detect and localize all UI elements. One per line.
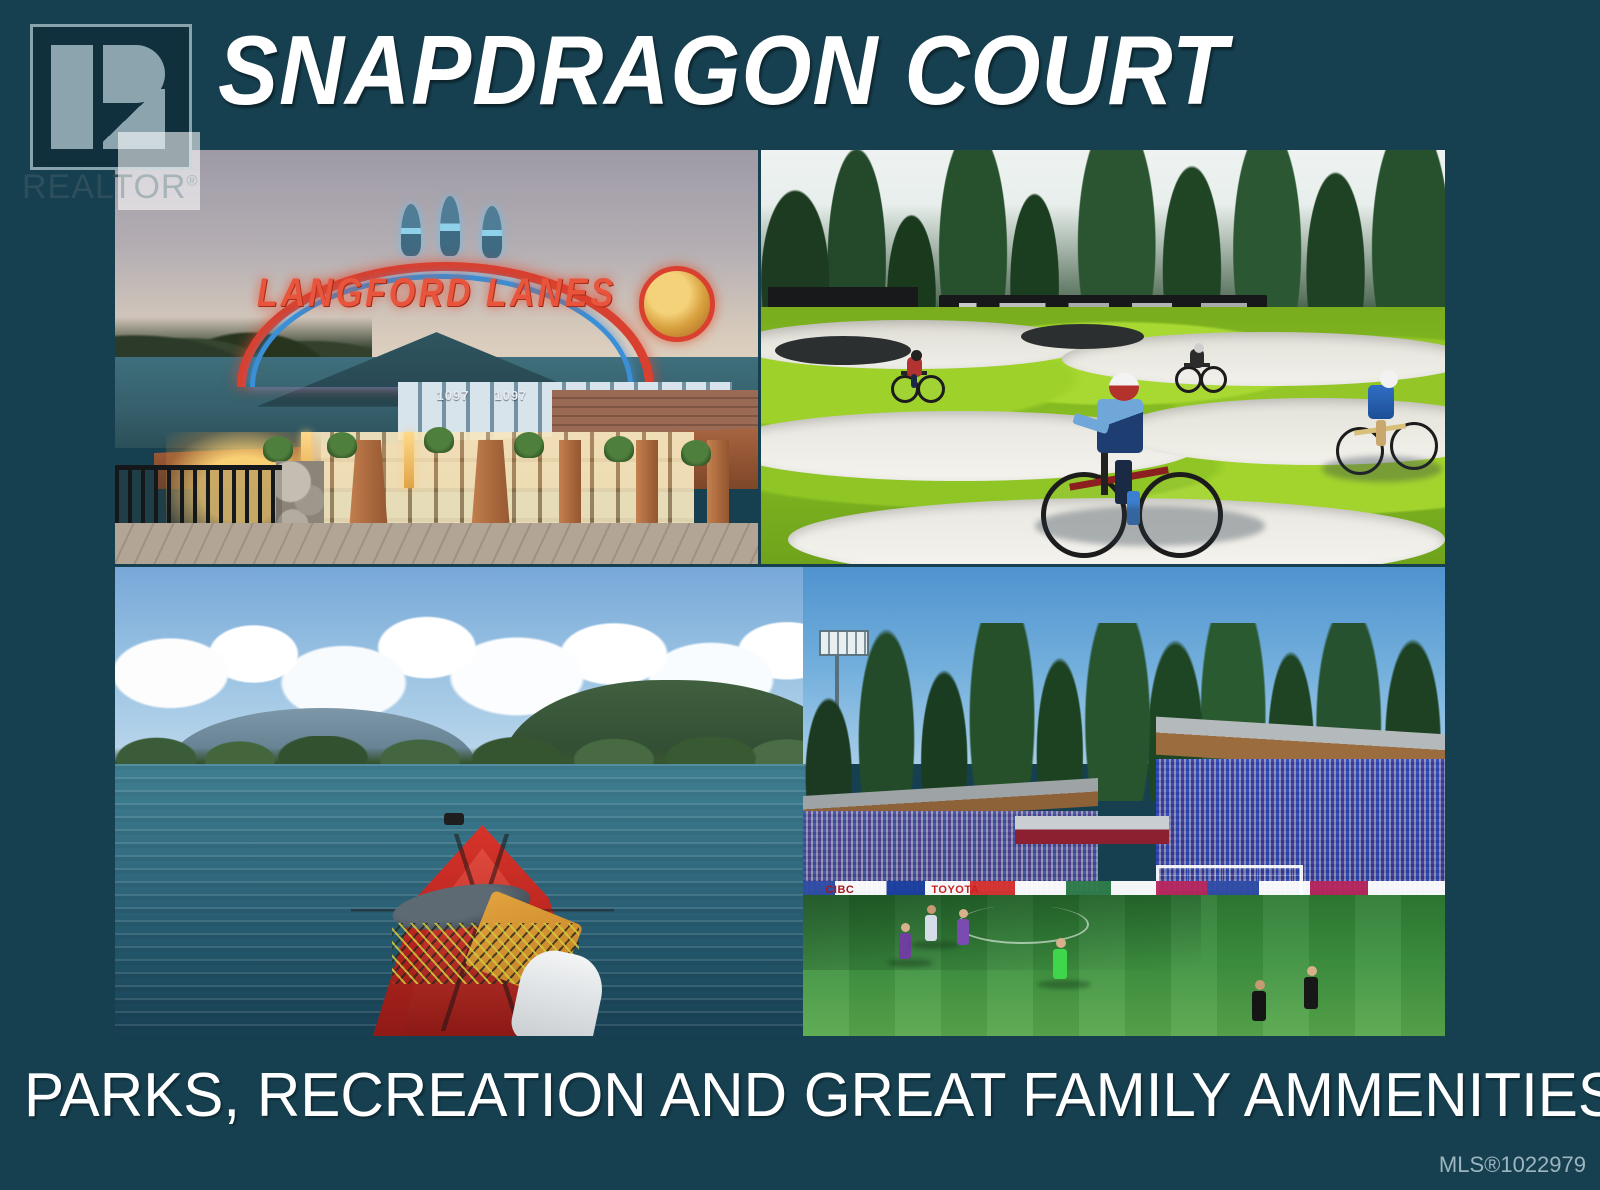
photo-kayaking[interactable] — [115, 567, 808, 1036]
bowling-pin-icon — [440, 196, 460, 256]
player-body — [1053, 949, 1067, 979]
rider-jersey — [1368, 385, 1394, 419]
player-body — [1252, 991, 1266, 1021]
photo-pump-track[interactable] — [761, 150, 1445, 564]
player-head — [959, 909, 968, 918]
player-head — [1307, 966, 1317, 976]
bowling-ball-icon — [639, 266, 715, 342]
rider-shadow — [1035, 506, 1265, 546]
bike-seatpost — [1101, 449, 1108, 495]
bowling-pin-icon — [482, 206, 502, 258]
photo-bowling-alley[interactable]: LANGFORD LANES 1097 1097 — [115, 150, 758, 564]
goalkeeper — [1053, 938, 1067, 984]
rider-helmet — [1109, 373, 1139, 401]
flower-basket — [514, 432, 544, 458]
paved-walkway — [115, 523, 758, 564]
player-shadow — [1037, 980, 1091, 989]
rider-helmet — [1194, 343, 1204, 353]
player — [957, 909, 969, 949]
player-body — [1304, 977, 1318, 1009]
page-title: SNAPDRAGON COURT — [218, 14, 1322, 132]
cyclist — [891, 345, 943, 401]
footer-caption: PARKS, RECREATION AND GREAT FAMILY AMMEN… — [24, 1060, 1576, 1131]
flower-basket — [681, 440, 711, 466]
address-number-left: 1097 — [437, 388, 470, 403]
player-body — [899, 933, 911, 959]
press-box — [1015, 816, 1169, 844]
rider-leg — [911, 374, 917, 388]
flower-basket — [424, 427, 454, 453]
rider-leg — [1376, 420, 1386, 446]
flower-basket — [604, 436, 634, 462]
player — [899, 923, 911, 963]
rider-helmet — [1380, 370, 1398, 388]
referee — [1252, 980, 1266, 1026]
listing-flyer: SNAPDRAGON COURT REALTOR® LANGFORD LANES — [0, 0, 1600, 1190]
track-bowl — [1021, 324, 1144, 349]
player-body — [957, 919, 969, 945]
flower-basket — [263, 436, 293, 462]
ad-board-label-left: CIBC — [825, 884, 854, 896]
bike-wheel — [917, 375, 945, 403]
referee — [1304, 966, 1318, 1014]
header-band: SNAPDRAGON COURT — [0, 0, 1600, 148]
player-head — [901, 923, 910, 932]
player-body — [925, 915, 937, 941]
mls-number: MLS®1022979 — [1439, 1152, 1586, 1178]
address-number-right: 1097 — [494, 388, 527, 403]
entry-light — [404, 432, 414, 488]
bow-fitting — [444, 813, 464, 825]
player-head — [1255, 980, 1265, 990]
player-shadow — [911, 941, 959, 949]
photo-soccer-stadium[interactable]: CIBC TOYOTA — [803, 567, 1445, 1036]
player-head — [927, 905, 936, 914]
player — [925, 905, 937, 945]
photo-grid: LANGFORD LANES 1097 1097 — [115, 150, 1445, 1036]
flower-basket — [327, 432, 357, 458]
player-head — [1056, 938, 1066, 948]
penalty-arc — [957, 905, 1089, 945]
ad-board-label-right: TOYOTA — [931, 884, 979, 896]
